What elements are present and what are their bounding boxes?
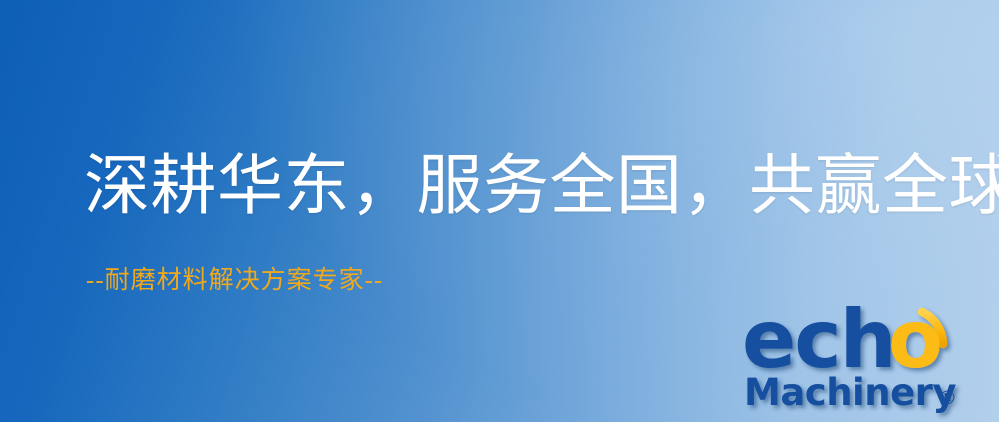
brand-logo[interactable]: ech o Machinery ®	[742, 292, 994, 420]
logo-tagline: Machinery	[744, 371, 956, 414]
registered-trademark-icon: ®	[938, 387, 957, 409]
promo-banner: 深耕华东，服务全国，共赢全球 --耐磨材料解决方案专家--	[0, 0, 999, 422]
page-title: 深耕华东，服务全国，共赢全球	[84, 152, 999, 221]
banner-subtitle: --耐磨材料解决方案专家--	[86, 266, 383, 296]
